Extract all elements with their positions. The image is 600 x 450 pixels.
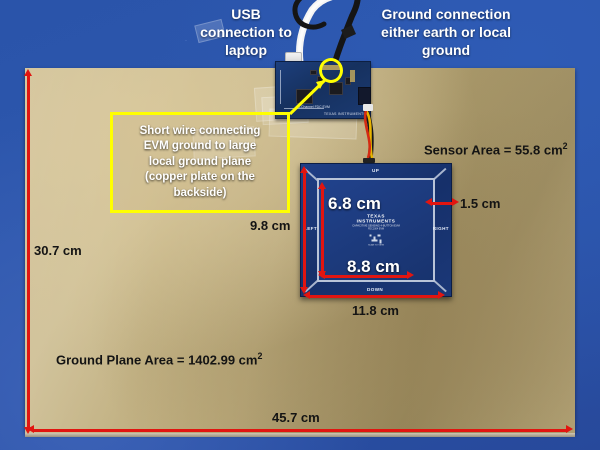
sensor-label-right: RIGHT [433,226,449,231]
usb-callout-line-1: USB [188,6,304,24]
sensor-inner-height-label: 6.8 cm [328,193,381,215]
usb-callout-text: USB connection to laptop [188,6,304,60]
ti-brand-sub2: FDC1004 EVM [348,228,405,231]
ti-brand-name: TEXAS INSTRUMENTS [348,214,405,224]
sensor-width-dimension-line [310,295,440,298]
plane-width-dimension-line [34,429,568,432]
ground-pin-highlight-circle [319,58,343,83]
callout-line-5: backside) [140,186,261,201]
callout-line-3: local ground plane [140,155,261,170]
smd-part [310,70,317,75]
inner-width-arrow-right [407,271,414,279]
evm-brand: TEXAS INSTRUMENTS [324,112,366,116]
plane-width-arrow-left [27,425,34,433]
sensor-area-exponent: 2 [563,141,568,151]
usb-callout-line-3: laptop [188,42,304,60]
inner-height-arrow-top [318,182,326,189]
sensor-area-label: Sensor Area = 55.8 cm2 [424,141,568,159]
wire-header [358,87,371,105]
inner-width-arrow-left [318,271,325,279]
inner-width-dimension-line [325,275,409,278]
ti-logo: TEXAS INSTRUMENTS CAPACITIVE SENSING 4-B… [348,214,405,247]
border-width-dimension-line [430,202,454,205]
border-width-label: 1.5 cm [460,196,500,213]
plane-height-dimension-line [27,76,30,428]
silkscreen-line [280,70,281,104]
callout-line-2: EVM ground to large [140,139,261,154]
sensor-height-dimension-line [303,172,306,288]
short-wire-callout-box: Short wire connecting EVM ground to larg… [110,112,290,213]
ground-callout-line-1: Ground connection [375,6,517,24]
sensor-chip [329,82,343,95]
sensor-area-text: Sensor Area = 55.8 cm [424,142,563,157]
ground-plane-area-exponent: 2 [257,351,262,361]
sensor-width-label: 11.8 cm [352,303,399,320]
callout-line-1: Short wire connecting [140,124,261,139]
mcu-chip [296,89,313,104]
callout-line-4: (copper plate on the [140,170,261,185]
sensor-label-up: UP [372,168,379,173]
sensor-height-arrow-top [300,166,308,173]
plane-width-label: 45.7 cm [272,410,320,427]
header-pads [350,70,355,82]
ground-plane-edge [25,433,575,437]
sensor-label-down: DOWN [367,287,383,292]
plane-width-arrow-right [566,425,573,433]
inner-height-dimension-line [321,188,324,272]
usb-callout-line-2: connection to [188,24,304,42]
sensor-width-arrow-right [438,291,445,299]
ground-plane-area-text: Ground Plane Area = 1402.99 cm [56,352,257,367]
border-width-arrow-right [452,198,459,206]
qr-caption: SCAN TO VIEW [348,245,405,247]
capacitive-sensor-board: TEXAS INSTRUMENTS CAPACITIVE SENSING 4-B… [300,163,452,297]
sensor-height-label: 9.8 cm [250,218,290,235]
photo-figure: 4-Channel FDC EVM TEXAS INSTRUMENTS TEXA… [0,0,600,450]
evm-part-name: 4-Channel FDC EVM [298,105,330,109]
border-width-arrow-left [425,198,432,206]
ground-callout-line-2: either earth or local [375,24,517,42]
plane-height-label: 30.7 cm [34,243,82,260]
ground-plane-area-label: Ground Plane Area = 1402.99 cm2 [56,351,262,369]
sensor-width-arrow-left [303,291,310,299]
qr-code [370,235,383,245]
short-wire-callout-text: Short wire connecting EVM ground to larg… [136,124,265,201]
plane-height-arrow-top [24,69,32,76]
ground-callout-text: Ground connection either earth or local … [375,6,517,60]
ground-callout-line-3: ground [375,42,517,60]
